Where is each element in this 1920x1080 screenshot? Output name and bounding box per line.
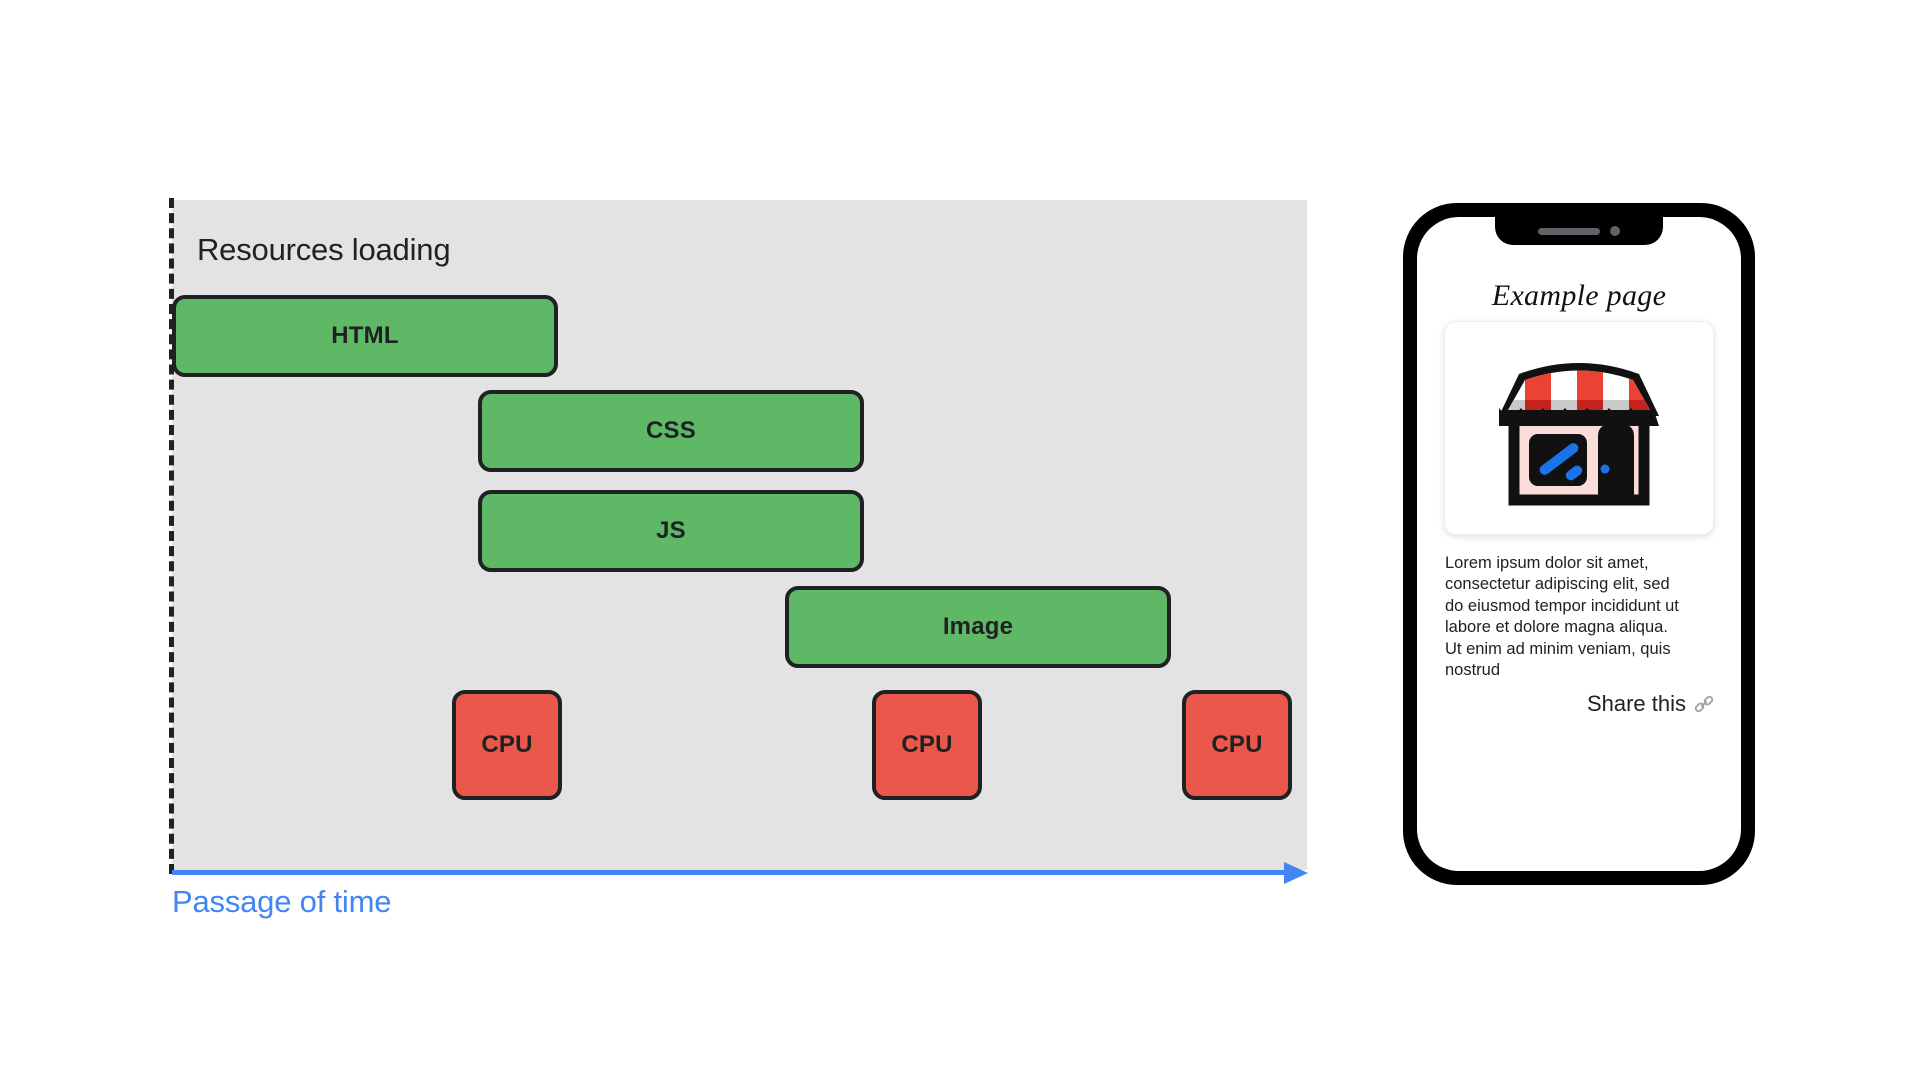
cpu-task-box: CPU (452, 690, 562, 800)
speaker-grille-icon (1538, 228, 1600, 235)
cpu-task-label: CPU (481, 731, 532, 759)
example-page-title: Example page (1417, 279, 1741, 313)
navigation-start-dashed-line (169, 198, 174, 874)
resources-loading-diagram: Resources loading HTML CSS JS Image CPU … (172, 200, 1307, 870)
resource-bar-css: CSS (478, 390, 864, 472)
link-icon (1693, 693, 1715, 715)
share-this-link[interactable]: Share this (1587, 691, 1715, 717)
time-axis-line (172, 870, 1297, 875)
cpu-task-label: CPU (1211, 731, 1262, 759)
resource-bar-label: CSS (646, 417, 696, 445)
resource-bar-js: JS (478, 490, 864, 572)
resource-bar-label: HTML (331, 322, 398, 350)
cpu-task-box: CPU (1182, 690, 1292, 800)
phone-notch (1495, 217, 1663, 245)
arrow-right-icon (1284, 862, 1308, 884)
cpu-task-box: CPU (872, 690, 982, 800)
page-title: Resources loading (197, 232, 450, 268)
image-card (1444, 321, 1714, 535)
cpu-task-label: CPU (901, 731, 952, 759)
resource-bar-label: Image (943, 613, 1013, 641)
phone-screen: Example page (1417, 217, 1741, 871)
resource-bar-label: JS (656, 517, 686, 545)
front-camera-icon (1610, 226, 1620, 236)
body-text: Lorem ipsum dolor sit amet, consectetur … (1445, 553, 1687, 682)
time-axis-label: Passage of time (172, 884, 391, 920)
storefront-icon (1481, 344, 1677, 512)
share-this-label: Share this (1587, 691, 1686, 717)
phone-mockup: Example page (1403, 203, 1755, 885)
resource-bar-image: Image (785, 586, 1171, 668)
resource-bar-html: HTML (172, 295, 558, 377)
